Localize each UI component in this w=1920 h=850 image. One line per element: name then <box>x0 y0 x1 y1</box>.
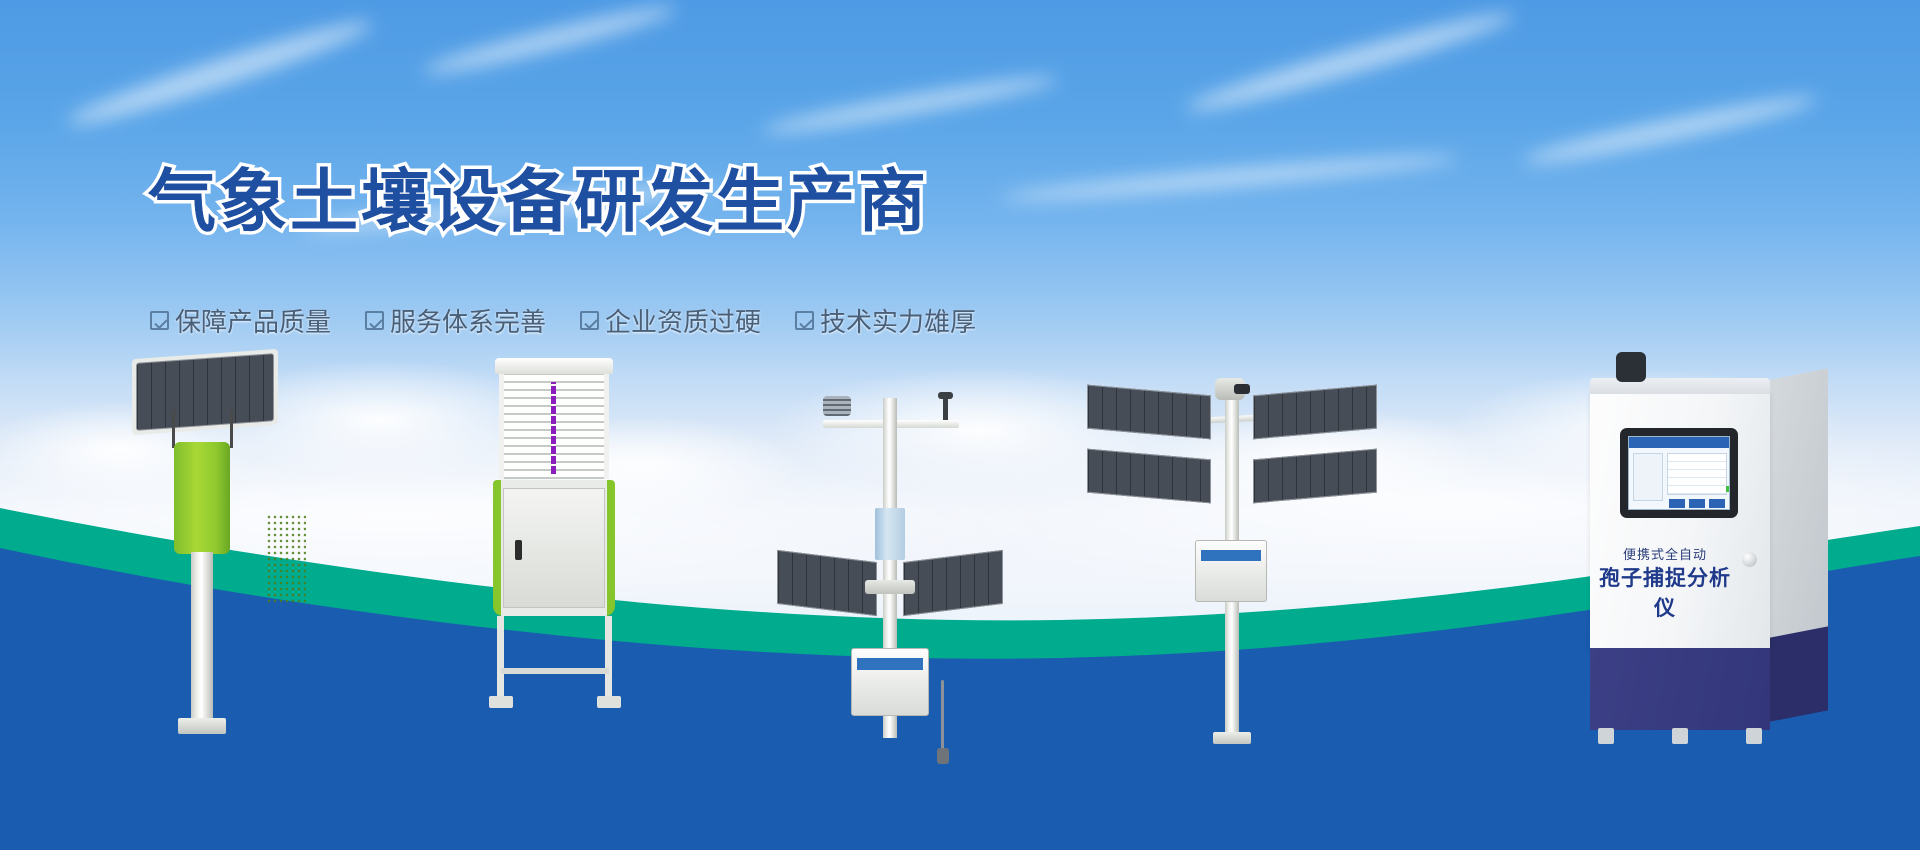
mounting-hub <box>865 580 915 594</box>
product-showcase: 风吸式杀虫灯 虫情测报灯 <box>0 380 1920 800</box>
feature-item-1: 服务体系完善 <box>365 302 546 339</box>
cloud-wisp <box>1000 150 1460 206</box>
support-arm <box>172 410 175 448</box>
mesh-grille <box>266 514 306 606</box>
screen-button-row[interactable] <box>1669 499 1725 508</box>
support-arm <box>230 410 233 448</box>
solar-panel-icon <box>1087 385 1211 440</box>
wind-vane-stem <box>943 394 948 420</box>
cabinet-side-panel <box>1770 368 1828 647</box>
sensor-cable <box>941 680 944 750</box>
feature-item-0: 保障产品质量 <box>150 302 331 339</box>
feature-list: 保障产品质量 服务体系完善 企业资质过硬 技术实力雄厚 <box>150 302 976 339</box>
solar-panel-icon <box>1253 449 1377 504</box>
uv-tube-icon <box>551 382 556 474</box>
plinth <box>1590 648 1770 730</box>
pole-base <box>178 718 226 734</box>
solar-panel-icon <box>136 353 274 431</box>
feature-label: 技术实力雄厚 <box>820 302 976 339</box>
cloud-wisp <box>1183 4 1516 121</box>
device-caption-small: 便携式全自动 <box>1590 544 1740 563</box>
lock-icon <box>515 540 522 560</box>
foot-plate <box>1672 728 1688 744</box>
cloud-wisp <box>1521 89 1819 171</box>
door-knob-icon[interactable] <box>1742 552 1757 567</box>
feature-label: 企业资质过硬 <box>605 302 761 339</box>
cloud-wisp <box>421 0 678 81</box>
product-crop-growth-monitor[interactable]: 苗情监测站 <box>1095 380 1435 800</box>
product-spore-catcher[interactable]: 便携式全自动 孢子捕捉分析仪 孢子捕捉仪 <box>1520 380 1880 800</box>
device-screen[interactable] <box>1628 436 1730 510</box>
product-suction-insect-lamp[interactable]: 风吸式杀虫灯 <box>90 380 430 800</box>
feature-label: 保障产品质量 <box>175 302 331 339</box>
cabinet-banner <box>857 658 923 670</box>
plinth-side <box>1770 626 1828 721</box>
support-leg <box>605 616 612 698</box>
product-pest-forecast-lamp[interactable]: 虫情测报灯 <box>415 380 755 800</box>
screen-parameter-grid <box>1667 453 1727 495</box>
intake-port-icon <box>1616 352 1646 382</box>
solar-panel-icon <box>903 550 1003 616</box>
pole-base <box>1213 732 1251 744</box>
soil-probe-icon <box>937 748 949 764</box>
rain-gauge-icon <box>875 508 905 560</box>
solar-panel-icon <box>777 550 877 616</box>
page-title: 气象土壤设备研发生产商 <box>148 168 929 236</box>
cloud-wisp <box>761 70 1060 140</box>
foot-plate <box>597 696 621 708</box>
device-caption-large: 孢子捕捉分析仪 <box>1590 562 1740 622</box>
checkbox-checked-icon <box>580 311 599 330</box>
foot-plate <box>1746 728 1762 744</box>
screen-preview-pane <box>1633 453 1663 501</box>
feature-item-2: 企业资质过硬 <box>580 302 761 339</box>
foot-plate <box>489 696 513 708</box>
solar-panel-icon <box>1087 449 1211 504</box>
cross-brace <box>501 668 609 674</box>
feature-item-3: 技术实力雄厚 <box>795 302 976 339</box>
lamp-housing <box>174 442 230 554</box>
checkbox-checked-icon <box>365 311 384 330</box>
cloud-wisp <box>64 11 376 135</box>
checkbox-checked-icon <box>795 311 814 330</box>
foot-plate <box>1598 728 1614 744</box>
camera-lens-icon <box>1234 384 1250 394</box>
product-agro-weather-station[interactable]: 农业气象站 <box>755 380 1095 800</box>
rain-cap <box>495 358 613 374</box>
hero-banner: 气象土壤设备研发生产商 气象土壤设备研发生产商 保障产品质量 服务体系完善 企业… <box>0 0 1920 850</box>
anemometer-icon <box>823 396 851 416</box>
cabinet-banner <box>1201 550 1261 561</box>
checkbox-checked-icon <box>150 311 169 330</box>
status-indicator <box>1726 486 1730 492</box>
support-leg <box>497 616 504 698</box>
mounting-pole <box>191 552 213 727</box>
solar-panel-icon <box>1253 385 1377 440</box>
feature-label: 服务体系完善 <box>390 302 546 339</box>
screen-header <box>1629 437 1729 448</box>
